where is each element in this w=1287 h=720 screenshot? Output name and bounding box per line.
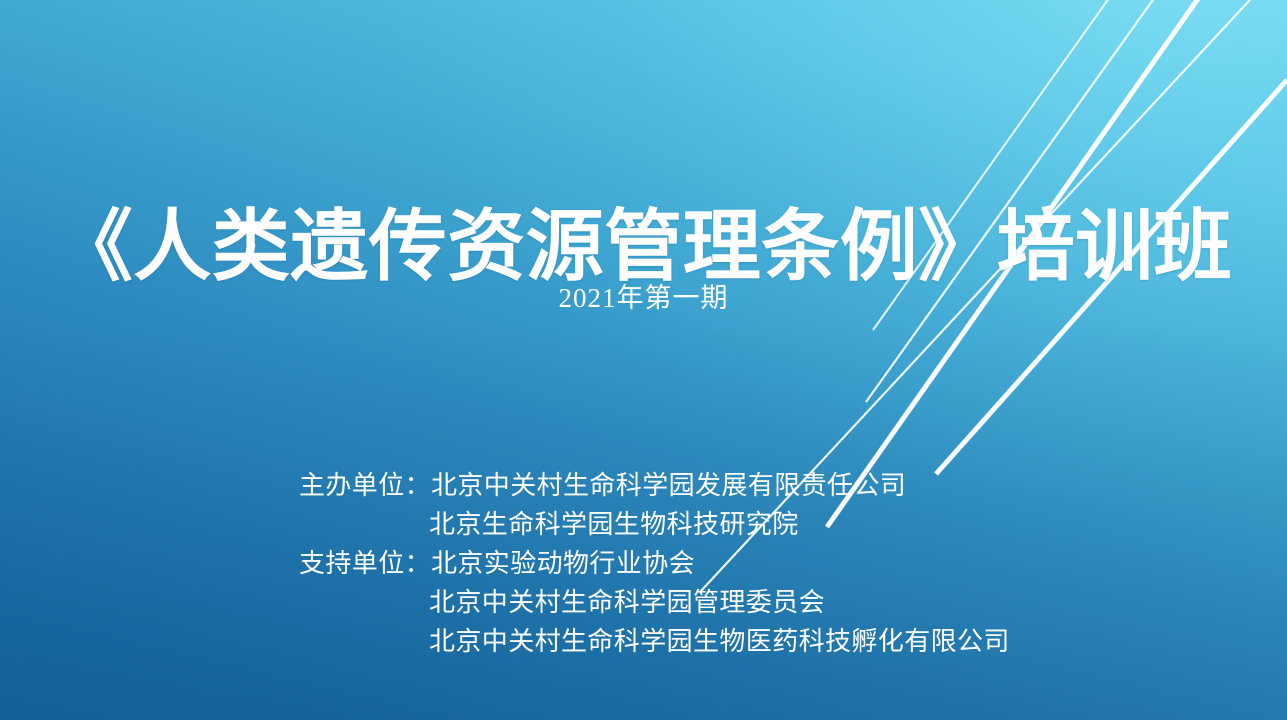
- slide-subtitle: 2021年第一期: [0, 276, 1287, 315]
- credit-line-5: 北京中关村生命科学园生物医药科技孵化有限公司: [299, 622, 1010, 661]
- credit-line-1: 主办单位：北京中关村生命科学园发展有限责任公司: [299, 466, 1010, 505]
- presentation-slide: 《人类遗传资源管理条例》培训班 2021年第一期 主办单位：北京中关村生命科学园…: [0, 0, 1287, 720]
- organizer-credits-block: 主办单位：北京中关村生命科学园发展有限责任公司 北京生命科学园生物科技研究院 支…: [299, 466, 1010, 661]
- diagonal-line-3: [866, 0, 1287, 402]
- credit-line-4: 北京中关村生命科学园管理委员会: [299, 583, 1010, 622]
- credit-line-2: 北京生命科学园生物科技研究院: [299, 505, 1010, 544]
- credit-line-3: 支持单位：北京实验动物行业协会: [299, 544, 1010, 583]
